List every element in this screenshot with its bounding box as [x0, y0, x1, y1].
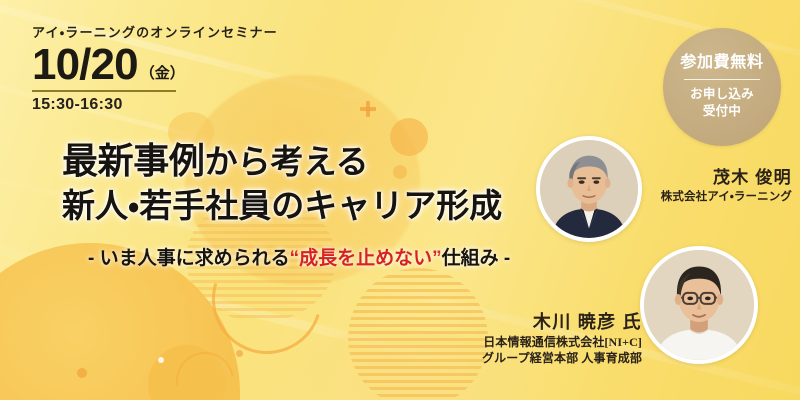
subline-prefix: - いま人事に求められる	[88, 248, 290, 269]
speaker-1-org-line1: 株式会社アイ・ラーニング	[560, 190, 792, 205]
decor-dot-white	[158, 357, 164, 363]
badge-bottom-line2: 受付中	[690, 103, 754, 120]
subline-suffix: 仕組み -	[442, 248, 511, 269]
decor-circle-orange-small	[148, 345, 226, 400]
badge-divider	[684, 79, 760, 80]
headline-line1-rest: から考える	[205, 143, 369, 180]
headline-subline: - いま人事に求められる“成長を止めない”仕組み -	[88, 243, 510, 270]
speaker-1-info: 茂木 俊明 株式会社アイ・ラーニング	[560, 168, 792, 205]
seminar-day-of-week: （金）	[138, 62, 185, 88]
seminar-banner: アイ・ラーニングのオンラインセミナー 10/20 （金） 15:30-16:30…	[0, 0, 800, 400]
speaker-2-name: 木川 暁彦 氏	[420, 312, 642, 334]
portrait-kikawa-icon	[644, 250, 754, 360]
speaker-1-name: 茂木 俊明	[560, 168, 792, 188]
speaker-2-org-line2: グループ経営本部 人事育成部	[420, 351, 642, 366]
seminar-date: 10/20	[32, 43, 138, 88]
date-divider	[32, 90, 176, 92]
decor-arc-small	[165, 341, 246, 400]
speaker-2-info: 木川 暁彦 氏 日本情報通信株式会社[NI+C] グループ経営本部 人事育成部	[420, 312, 642, 366]
header-date-block: アイ・ラーニングのオンラインセミナー 10/20 （金） 15:30-16:30	[32, 22, 278, 114]
badge-bottom-line1: お申し込み	[690, 86, 754, 103]
speaker-2-avatar	[640, 246, 758, 364]
headline-line-1: 最新事例から考える	[62, 138, 502, 185]
headline-block: 最新事例から考える 新人・若手社員のキャリア形成	[62, 138, 502, 228]
seminar-kicker: アイ・ラーニングのオンラインセミナー	[32, 22, 278, 41]
decor-dot	[77, 368, 87, 378]
badge-bottom-label: お申し込み 受付中	[690, 86, 754, 120]
headline-line-2: 新人・若手社員のキャリア形成	[62, 185, 502, 228]
free-entry-badge[interactable]: 参加費無料 お申し込み 受付中	[663, 28, 781, 146]
badge-top-label: 参加費無料	[680, 54, 763, 72]
seminar-time: 15:30-16:30	[32, 96, 278, 114]
date-row: 10/20 （金）	[32, 43, 278, 88]
speaker-2-org-line1: 日本情報通信株式会社[NI+C]	[420, 335, 642, 350]
headline-lead: 最新事例	[62, 140, 205, 181]
subline-accent: “成長を止めない”	[290, 248, 442, 269]
decor-dot	[236, 350, 243, 357]
decor-plus-icon	[360, 101, 376, 117]
